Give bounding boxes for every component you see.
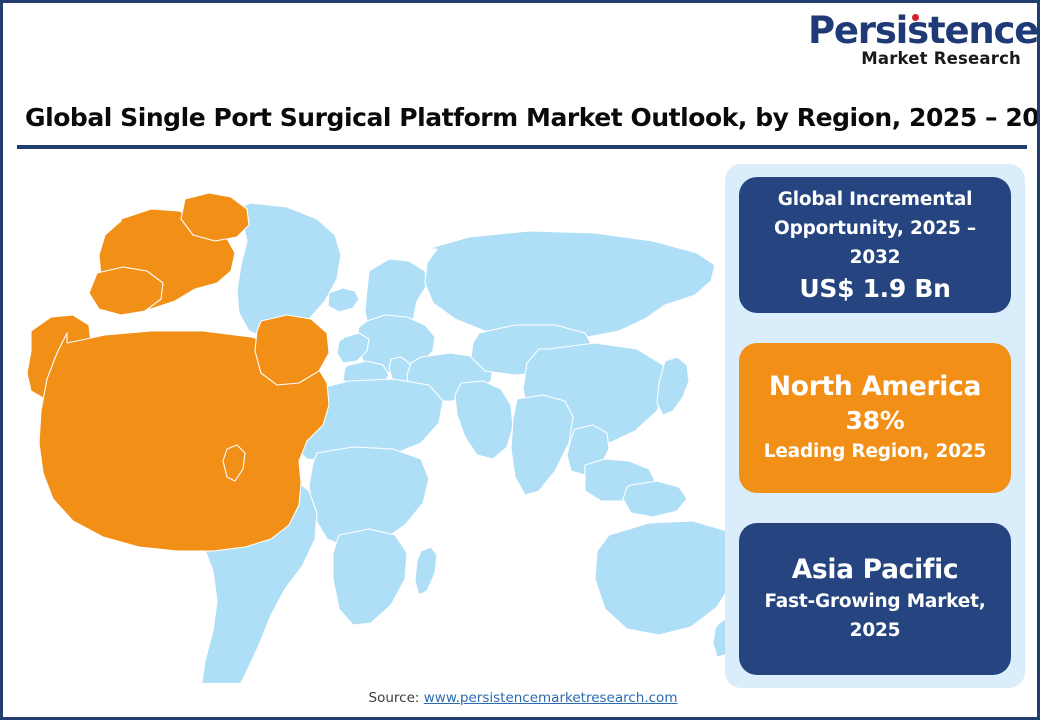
logo-primary-label: Persistence	[808, 9, 1038, 52]
stat-card-line: Global Incremental	[778, 185, 973, 214]
infographic-page: Persistence Market Research Global Singl…	[0, 0, 1040, 720]
stats-panel: Global Incremental Opportunity, 2025 – 2…	[725, 164, 1025, 688]
stat-card-line: Opportunity, 2025 – 2032	[749, 214, 1001, 272]
page-title: Global Single Port Surgical Platform Mar…	[25, 103, 1025, 132]
stat-card-value: 38%	[846, 404, 905, 437]
company-logo: Persistence Market Research	[808, 11, 1023, 73]
stat-card-leading-region[interactable]: North America 38% Leading Region, 2025	[739, 343, 1011, 493]
world-map	[9, 153, 725, 683]
title-divider	[17, 145, 1027, 149]
logo-primary-text: Persistence	[808, 11, 1023, 51]
stat-card-line: Fast-Growing Market,	[764, 587, 985, 616]
source-link[interactable]: www.persistencemarketresearch.com	[424, 690, 678, 706]
world-map-svg	[9, 153, 725, 683]
stat-card-line: 2025	[850, 616, 901, 645]
stat-card-title: Asia Pacific	[792, 553, 959, 587]
source-footer: Source: www.persistencemarketresearch.co…	[3, 690, 1040, 706]
stat-card-global-incremental-opportunity[interactable]: Global Incremental Opportunity, 2025 – 2…	[739, 177, 1011, 313]
stat-card-fast-growing-market[interactable]: Asia Pacific Fast-Growing Market, 2025	[739, 523, 1011, 675]
source-label: Source:	[369, 690, 424, 706]
stat-card-value: US$ 1.9 Bn	[799, 272, 950, 305]
stat-card-title: North America	[769, 370, 981, 404]
stat-card-line: Leading Region, 2025	[764, 437, 986, 466]
logo-red-dot-icon	[912, 14, 919, 21]
